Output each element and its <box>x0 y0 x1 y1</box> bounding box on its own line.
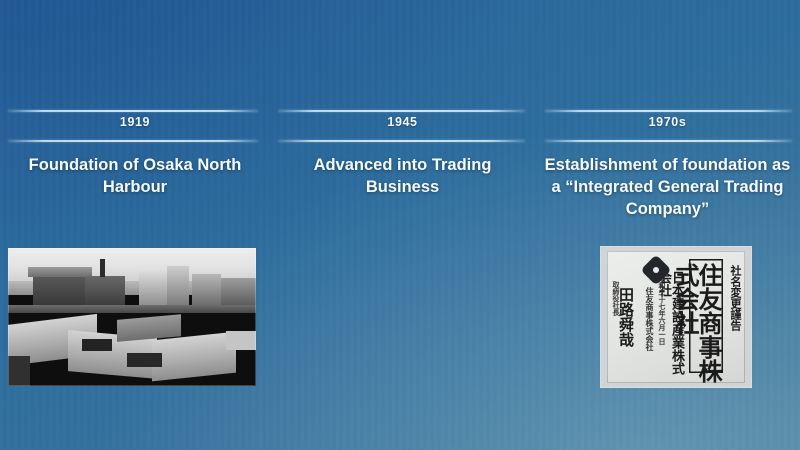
year-band: 1919 <box>0 110 270 142</box>
year-band: 1970s <box>535 110 800 142</box>
timeline-milestone-1970s[interactable]: 1970s Establishment of foundation as a “… <box>535 0 800 450</box>
divider-line-bottom <box>8 140 258 142</box>
timeline-columns: 1919 Foundation of Osaka North Harbour <box>0 0 800 450</box>
divider-line-bottom <box>545 140 792 142</box>
divider-line-top <box>545 110 792 112</box>
presentation-slide: 1919 Foundation of Osaka North Harbour <box>0 0 800 450</box>
milestone-headline: Establishment of foundation as a “Integr… <box>535 155 800 221</box>
milestone-year: 1970s <box>535 115 800 129</box>
timeline-milestone-1945[interactable]: 1945 Advanced into Trading Business 社名変更… <box>270 0 535 450</box>
photo-border <box>8 248 256 386</box>
timeline-milestone-1919[interactable]: 1919 Foundation of Osaka North Harbour <box>0 0 270 450</box>
milestone-year: 1919 <box>0 115 270 129</box>
milestone-image-osaka-north-harbour[interactable] <box>8 248 256 386</box>
divider-line-top <box>278 110 525 112</box>
divider-line-top <box>8 110 258 112</box>
milestone-headline: Advanced into Trading Business <box>270 155 535 199</box>
milestone-year: 1945 <box>270 115 535 129</box>
divider-line-bottom <box>278 140 525 142</box>
milestone-headline: Foundation of Osaka North Harbour <box>0 155 270 199</box>
year-band: 1945 <box>270 110 535 142</box>
